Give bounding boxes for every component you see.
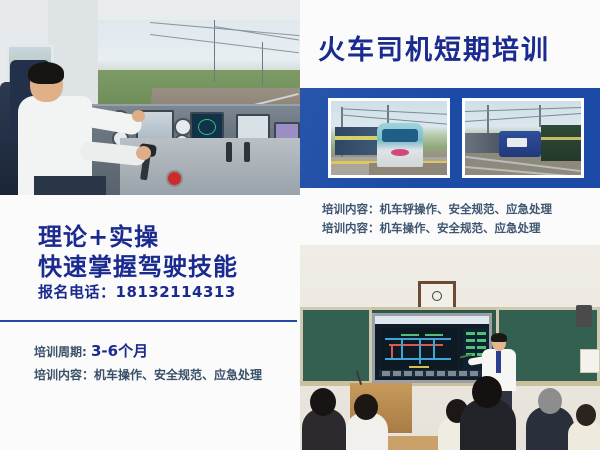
training-period-label: 培训周期: bbox=[34, 345, 87, 359]
train-photo-1-inner bbox=[331, 101, 447, 175]
locomotive-front bbox=[377, 123, 423, 167]
train-photo-2: HX bbox=[462, 98, 584, 178]
train-photo-2-inner: HX bbox=[465, 101, 581, 175]
train-cab-photo bbox=[0, 0, 300, 195]
interactive-display-screen bbox=[372, 313, 492, 383]
overhead-wire bbox=[465, 107, 581, 112]
screen-button-bar bbox=[379, 370, 487, 377]
details-block: 培训周期: 3-6个月 培训内容：机车操作、安全规范、应急处理 bbox=[0, 322, 300, 450]
instructor-necktie bbox=[496, 351, 501, 373]
content-lines-block: 培训内容：机车轷操作、安全规范、应急处理 培训内容：机车操作、安全规范、应急处理 bbox=[300, 188, 600, 245]
driver-legs bbox=[34, 176, 106, 195]
cab-lever bbox=[244, 142, 250, 162]
cab-lever bbox=[226, 142, 232, 162]
driver-hair bbox=[28, 62, 64, 84]
student-head bbox=[310, 388, 336, 416]
content-line-1: 培训内容：机车轷操作、安全规范、应急处理 bbox=[322, 201, 552, 217]
training-period-row: 培训周期: 3-6个月 bbox=[34, 340, 148, 361]
title-band: 火车司机短期培训 bbox=[300, 0, 600, 88]
driver-hand bbox=[132, 110, 145, 122]
emergency-stop-button-icon bbox=[166, 170, 183, 187]
locomotive-side: HX bbox=[499, 131, 541, 157]
training-period-value: 3-6个月 bbox=[91, 342, 148, 360]
driver-hand bbox=[136, 146, 151, 160]
headline-block: 理论+实操 快速掌握驾驶技能 报名电话：18132114313 bbox=[0, 195, 300, 320]
train-photo-1 bbox=[328, 98, 450, 178]
headline-line-2: 快速掌握驾驶技能 bbox=[38, 247, 238, 282]
green-coach bbox=[541, 125, 581, 161]
screen-circuit-diagram bbox=[381, 328, 457, 372]
background-train bbox=[465, 133, 501, 153]
wall-speaker-icon bbox=[576, 305, 592, 327]
overhead-wire bbox=[341, 108, 447, 115]
passenger-cars bbox=[335, 127, 381, 155]
poster-root: 火车司机短期培训 bbox=[0, 0, 600, 450]
screen-toolbar bbox=[375, 316, 489, 324]
catenary-pole-icon bbox=[214, 20, 215, 82]
training-content-row: 培训内容：机车操作、安全规范、应急处理 bbox=[34, 366, 284, 385]
student-head bbox=[576, 404, 596, 426]
wall-poster bbox=[580, 349, 600, 373]
enrollment-phone[interactable]: 报名电话：18132114313 bbox=[38, 281, 236, 302]
classroom-photo bbox=[300, 245, 600, 450]
overhead-wire bbox=[465, 113, 581, 122]
cab-radar-screen bbox=[190, 112, 224, 140]
student-head bbox=[538, 388, 562, 414]
catenary-pole-icon bbox=[387, 105, 389, 125]
blue-photo-panel: HX bbox=[300, 88, 600, 188]
instructor-hair bbox=[491, 333, 507, 342]
student-head bbox=[354, 394, 378, 420]
student-head bbox=[472, 376, 502, 408]
page-title: 火车司机短期培训 bbox=[318, 28, 586, 67]
content-line-2: 培训内容：机车操作、安全规范、应急处理 bbox=[322, 220, 541, 236]
chalkboard-left bbox=[300, 307, 372, 385]
